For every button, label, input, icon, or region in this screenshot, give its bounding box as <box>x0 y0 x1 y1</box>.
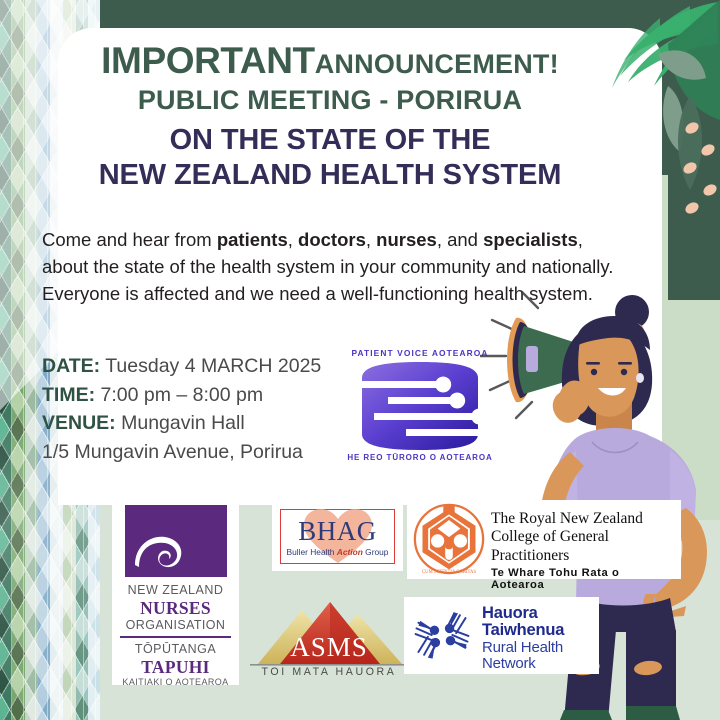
poster-canvas: IMPORTANTANNOUNCEMENT! PUBLIC MEETING - … <box>0 0 720 720</box>
asms-tagline: TOI MATA HAUORA <box>250 666 408 678</box>
bhag-sub-action: Action <box>337 547 363 557</box>
headline-subtitle: PUBLIC MEETING - PORIRUA <box>40 85 620 116</box>
nzno-line-3: ORGANISATION <box>112 618 239 633</box>
body-bold-specialists: specialists <box>483 229 578 250</box>
body-sep-3: , and <box>437 229 483 250</box>
time-value: 7:00 pm – 8:00 pm <box>101 384 264 406</box>
hauora-line-2: Taiwhenua <box>482 622 595 639</box>
nzno-text-block: NEW ZEALAND NURSES ORGANISATION TŌPŪTANG… <box>112 583 239 688</box>
bhag-sub-c: Group <box>363 547 389 557</box>
pva-logo-mark <box>340 348 500 464</box>
bhag-logo: BHAG Buller Health Action Group <box>272 502 403 571</box>
rnzcgp-line-1: The Royal New Zealand <box>491 510 675 528</box>
patient-voice-aotearoa-logo: PATIENT VOICE AOTEAROA HE REO TŪRORO O A… <box>340 348 500 464</box>
date-label: DATE: <box>42 355 100 377</box>
nzno-line-2: NURSES <box>112 598 239 618</box>
nzno-line-6: KAITIAKI O AOTEAROA <box>112 677 239 687</box>
date-value: Tuesday 4 MARCH 2025 <box>105 355 321 377</box>
nzno-line-5: TAPUHI <box>112 657 239 677</box>
rnzcgp-motto: CUM SCIENTIA CARITAS <box>422 570 477 575</box>
body-bold-nurses: nurses <box>376 229 437 250</box>
event-time-row: TIME: 7:00 pm – 8:00 pm <box>42 381 382 410</box>
bhag-subtitle: Buller Health Action Group <box>272 547 403 557</box>
headline-announcement: ANNOUNCEMENT! <box>315 49 559 79</box>
hauora-pinwheel-icon <box>409 602 475 668</box>
event-details: DATE: Tuesday 4 MARCH 2025 TIME: 7:00 pm… <box>42 352 382 467</box>
venue-label: VENUE: <box>42 412 116 434</box>
body-bold-patients: patients <box>217 229 288 250</box>
event-venue-row: VENUE: Mungavin Hall <box>42 409 382 438</box>
nzno-divider <box>120 636 231 638</box>
pva-top-text: PATIENT VOICE AOTEAROA <box>340 348 500 358</box>
body-text-1: Come and hear from <box>42 229 217 250</box>
body-bold-doctors: doctors <box>298 229 366 250</box>
nzno-koru-icon <box>121 503 231 579</box>
asms-acronym: ASMS <box>250 632 408 663</box>
nzno-line-4: TŌPŪTANGA <box>112 642 239 657</box>
hauora-line-3: Rural Health <box>482 640 595 656</box>
venue-address: 1/5 Mungavin Avenue, Porirua <box>42 438 382 467</box>
headline-topic-line-a: ON THE STATE OF THE <box>170 124 491 156</box>
body-sep-1: , <box>288 229 298 250</box>
hauora-line-1: Hauora <box>482 605 595 622</box>
venue-value: Mungavin Hall <box>121 412 245 434</box>
rnzcgp-logo: CUM SCIENTIA CARITAS The Royal New Zeala… <box>407 500 681 579</box>
nzno-logo: NEW ZEALAND NURSES ORGANISATION TŌPŪTANG… <box>112 495 239 685</box>
bhag-acronym: BHAG <box>272 516 403 547</box>
pva-bottom-text: HE REO TŪRORO O AOTEAROA <box>340 453 500 462</box>
headline-topic: ON THE STATE OF THE NEW ZEALAND HEALTH S… <box>40 123 620 191</box>
headline-important: IMPORTANT <box>101 40 315 81</box>
headline-primary: IMPORTANTANNOUNCEMENT! <box>40 42 620 80</box>
bhag-sub-a: Buller Health <box>287 547 337 557</box>
rnzcgp-crest-icon: CUM SCIENTIA CARITAS <box>413 503 485 575</box>
nzno-line-1: NEW ZEALAND <box>112 583 239 598</box>
rnzcgp-line-3: Te Whare Tohu Rata o Aotearoa <box>491 567 675 591</box>
time-label: TIME: <box>42 384 95 406</box>
rnzcgp-line-2: College of General Practitioners <box>491 528 675 565</box>
hauora-line-4: Network <box>482 656 595 672</box>
headline-block: IMPORTANTANNOUNCEMENT! PUBLIC MEETING - … <box>40 42 620 192</box>
hauora-taiwhenua-logo: Hauora Taiwhenua Rural Health Network <box>404 597 599 674</box>
headline-topic-line-b: NEW ZEALAND HEALTH SYSTEM <box>99 159 562 191</box>
event-date-row: DATE: Tuesday 4 MARCH 2025 <box>42 352 382 381</box>
asms-logo: ASMS TOI MATA HAUORA <box>250 592 408 680</box>
body-sep-2: , <box>366 229 376 250</box>
